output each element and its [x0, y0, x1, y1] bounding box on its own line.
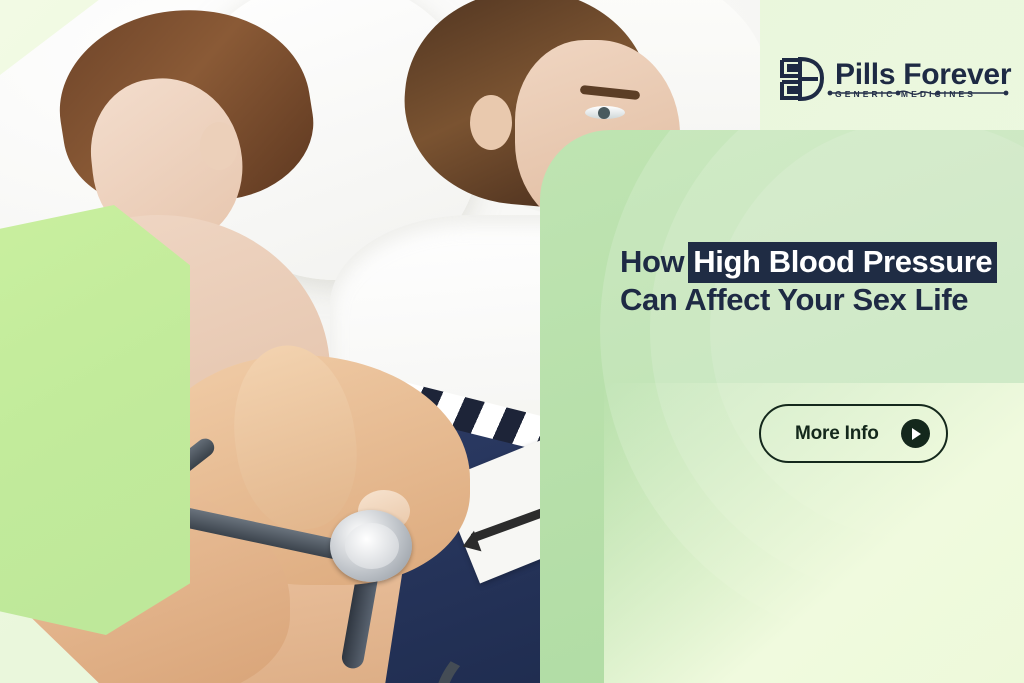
headline-prefix: How	[620, 244, 684, 279]
left-green-accent-shape	[0, 205, 190, 635]
headline-highlight: High Blood Pressure	[688, 242, 997, 283]
tagline-divider-icon	[826, 89, 1010, 101]
more-info-button[interactable]: More Info	[759, 404, 948, 463]
headline-block: HowHigh Blood Pressure Can Affect Your S…	[620, 243, 1020, 319]
stethoscope-diaphragm	[345, 523, 399, 569]
ed-monogram-icon	[778, 55, 824, 103]
promo-banner: Pills Forever GENERIC MEDICINES HowHigh …	[0, 0, 1024, 683]
headline-line-1: HowHigh Blood Pressure	[620, 243, 1020, 281]
more-info-label: More Info	[795, 423, 879, 445]
play-circle-icon	[901, 419, 930, 448]
headline-line-2: Can Affect Your Sex Life	[620, 281, 1020, 319]
man-pupil	[598, 107, 610, 119]
brand-name: Pills Forever	[835, 60, 1011, 90]
woman-ear	[200, 122, 238, 170]
man-ear	[470, 95, 512, 150]
